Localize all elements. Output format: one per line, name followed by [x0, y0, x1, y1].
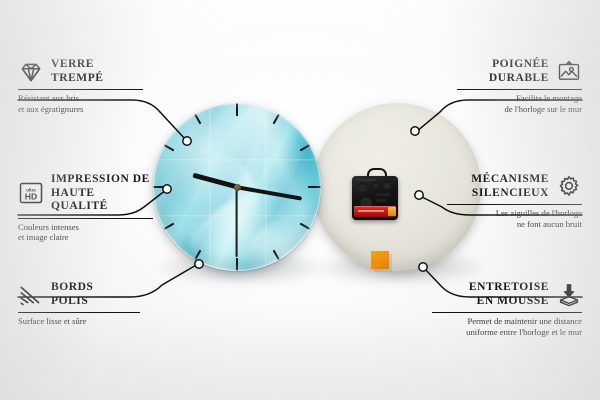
feature-title: MÉCANISME SILENCIEUX: [471, 173, 549, 200]
feature-description: Couleurs intenses et image claire: [18, 222, 153, 243]
svg-text:HD: HD: [25, 192, 37, 202]
callout-verre-trempe[interactable]: VERRE TREMPÉ Résistant aux bris et aux é…: [18, 58, 143, 115]
callout-bords-polis[interactable]: BORDS POLIS Surface lisse et sûre: [18, 281, 140, 327]
feature-title: BORDS POLIS: [51, 281, 93, 308]
polished-edges-icon: [18, 282, 44, 308]
feature-title: VERRE TREMPÉ: [51, 58, 104, 85]
callout-entretoise-en-mousse[interactable]: ENTRETOISE EN MOUSSE Permet de maintenir…: [432, 281, 582, 338]
feature-description: Résistant aux bris et aux égratignures: [18, 93, 143, 114]
feature-title: IMPRESSION DE HAUTE QUALITÉ: [51, 173, 153, 214]
diamond-icon: [18, 59, 44, 85]
battery: [354, 206, 396, 217]
infographic-canvas: VERRE TREMPÉ Résistant aux bris et aux é…: [0, 0, 600, 400]
feature-description: Les aiguilles de l'horloge ne font aucun…: [447, 208, 582, 229]
feature-description: Facilite le montage de l'horloge sur le …: [457, 93, 582, 114]
ultra-hd-badge-icon: ultra HD: [18, 180, 44, 206]
feature-title: ENTRETOISE EN MOUSSE: [469, 281, 549, 308]
clock-front-view: [153, 103, 321, 271]
divider: [18, 218, 153, 219]
divider: [447, 204, 582, 205]
divider: [432, 312, 582, 313]
callout-mecanisme-silencieux[interactable]: MÉCANISME SILENCIEUX Les aiguilles de l'…: [447, 173, 582, 230]
feature-description: Permet de maintenir une distance uniform…: [432, 316, 582, 337]
picture-hanger-icon: [556, 59, 582, 85]
feature-description: Surface lisse et sûre: [18, 316, 140, 327]
glass-rim: [153, 103, 321, 271]
gear-icon: [556, 174, 582, 200]
foam-spacer: [371, 251, 389, 269]
divider: [18, 312, 140, 313]
foam-spacer-icon: [556, 282, 582, 308]
feature-title: POIGNÉE DURABLE: [489, 58, 549, 85]
callout-impression-haute-qualite[interactable]: ultra HD IMPRESSION DE HAUTE QUALITÉ Cou…: [18, 173, 153, 243]
divider: [18, 89, 143, 90]
divider: [457, 89, 582, 90]
callout-poignee-durable[interactable]: POIGNÉE DURABLE Facilite le montage de l…: [457, 58, 582, 115]
